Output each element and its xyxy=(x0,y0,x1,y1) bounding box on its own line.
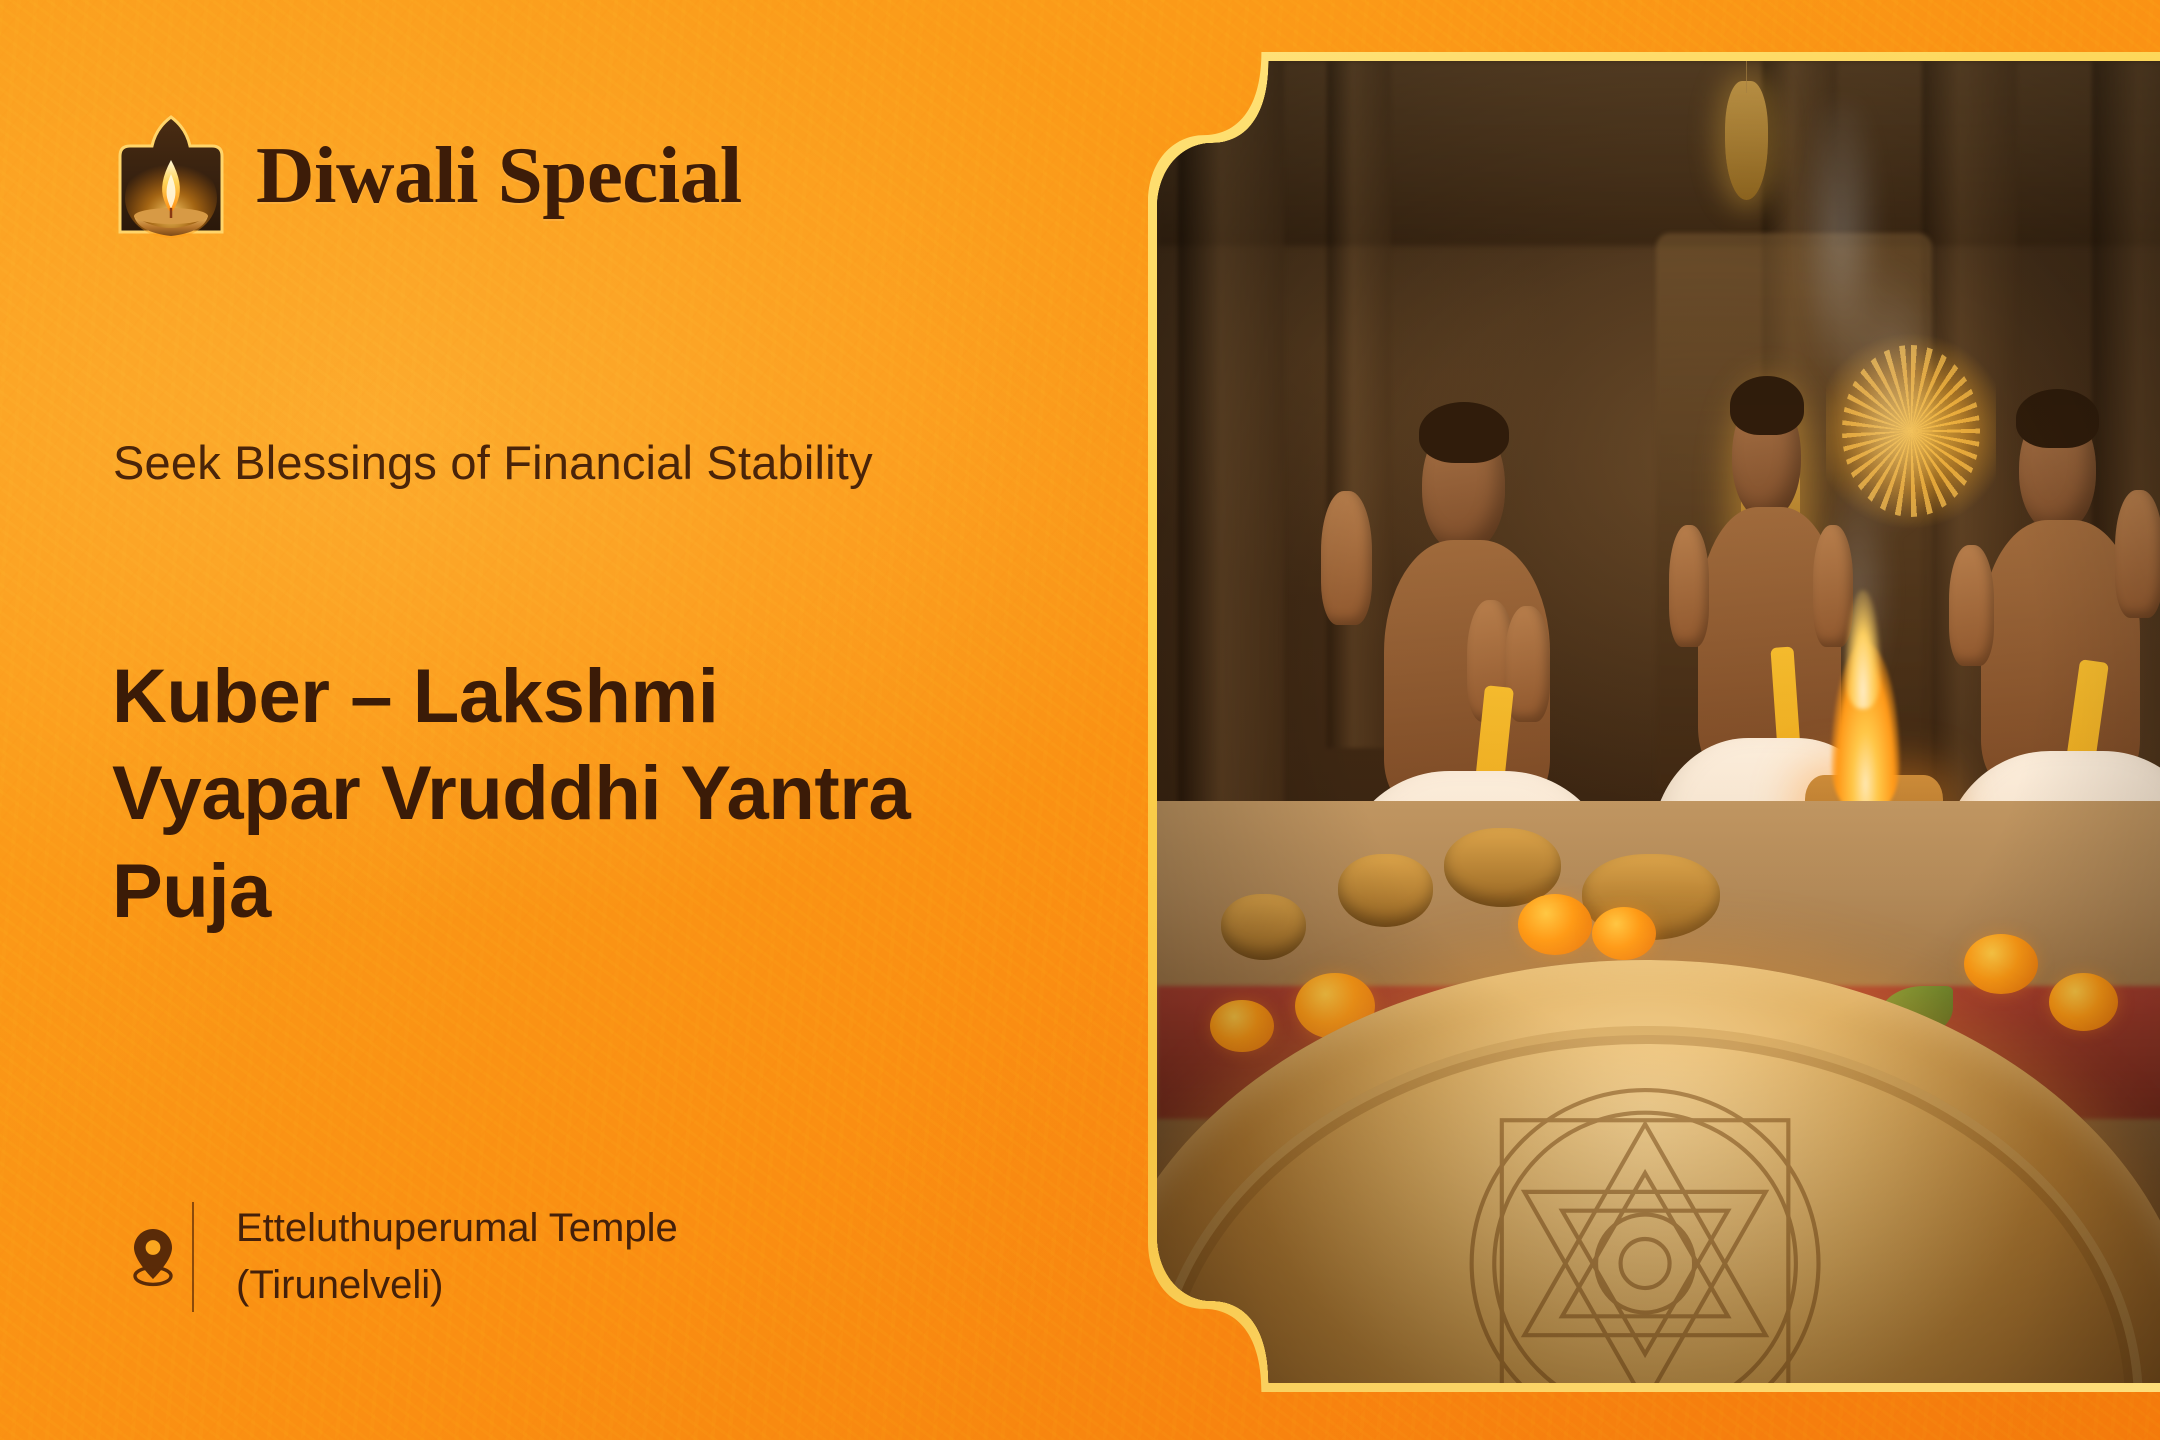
venue-name: Etteluthuperumal Temple (Tirunelveli) xyxy=(236,1200,678,1314)
brand-title: Diwali Special xyxy=(256,135,742,216)
venue-row: Etteluthuperumal Temple (Tirunelveli) xyxy=(114,1200,678,1314)
location-pin-icon xyxy=(114,1200,192,1314)
venue-divider xyxy=(192,1202,194,1312)
yantra-engraving xyxy=(1380,1075,1910,1383)
diwali-special-banner: Diwali Special Seek Blessings of Financi… xyxy=(0,0,2160,1440)
brand-lockup: Diwali Special xyxy=(112,112,742,238)
content-column: Diwali Special Seek Blessings of Financi… xyxy=(112,0,972,1440)
page-title: Kuber – Lakshmi Vyapar Vruddhi Yantra Pu… xyxy=(112,648,942,940)
eyebrow-text: Seek Blessings of Financial Stability xyxy=(113,432,923,495)
diya-lamp-icon xyxy=(112,112,230,238)
puja-image-card xyxy=(1148,52,2160,1392)
puja-scene xyxy=(1157,61,2160,1383)
puja-photo xyxy=(1157,61,2160,1383)
